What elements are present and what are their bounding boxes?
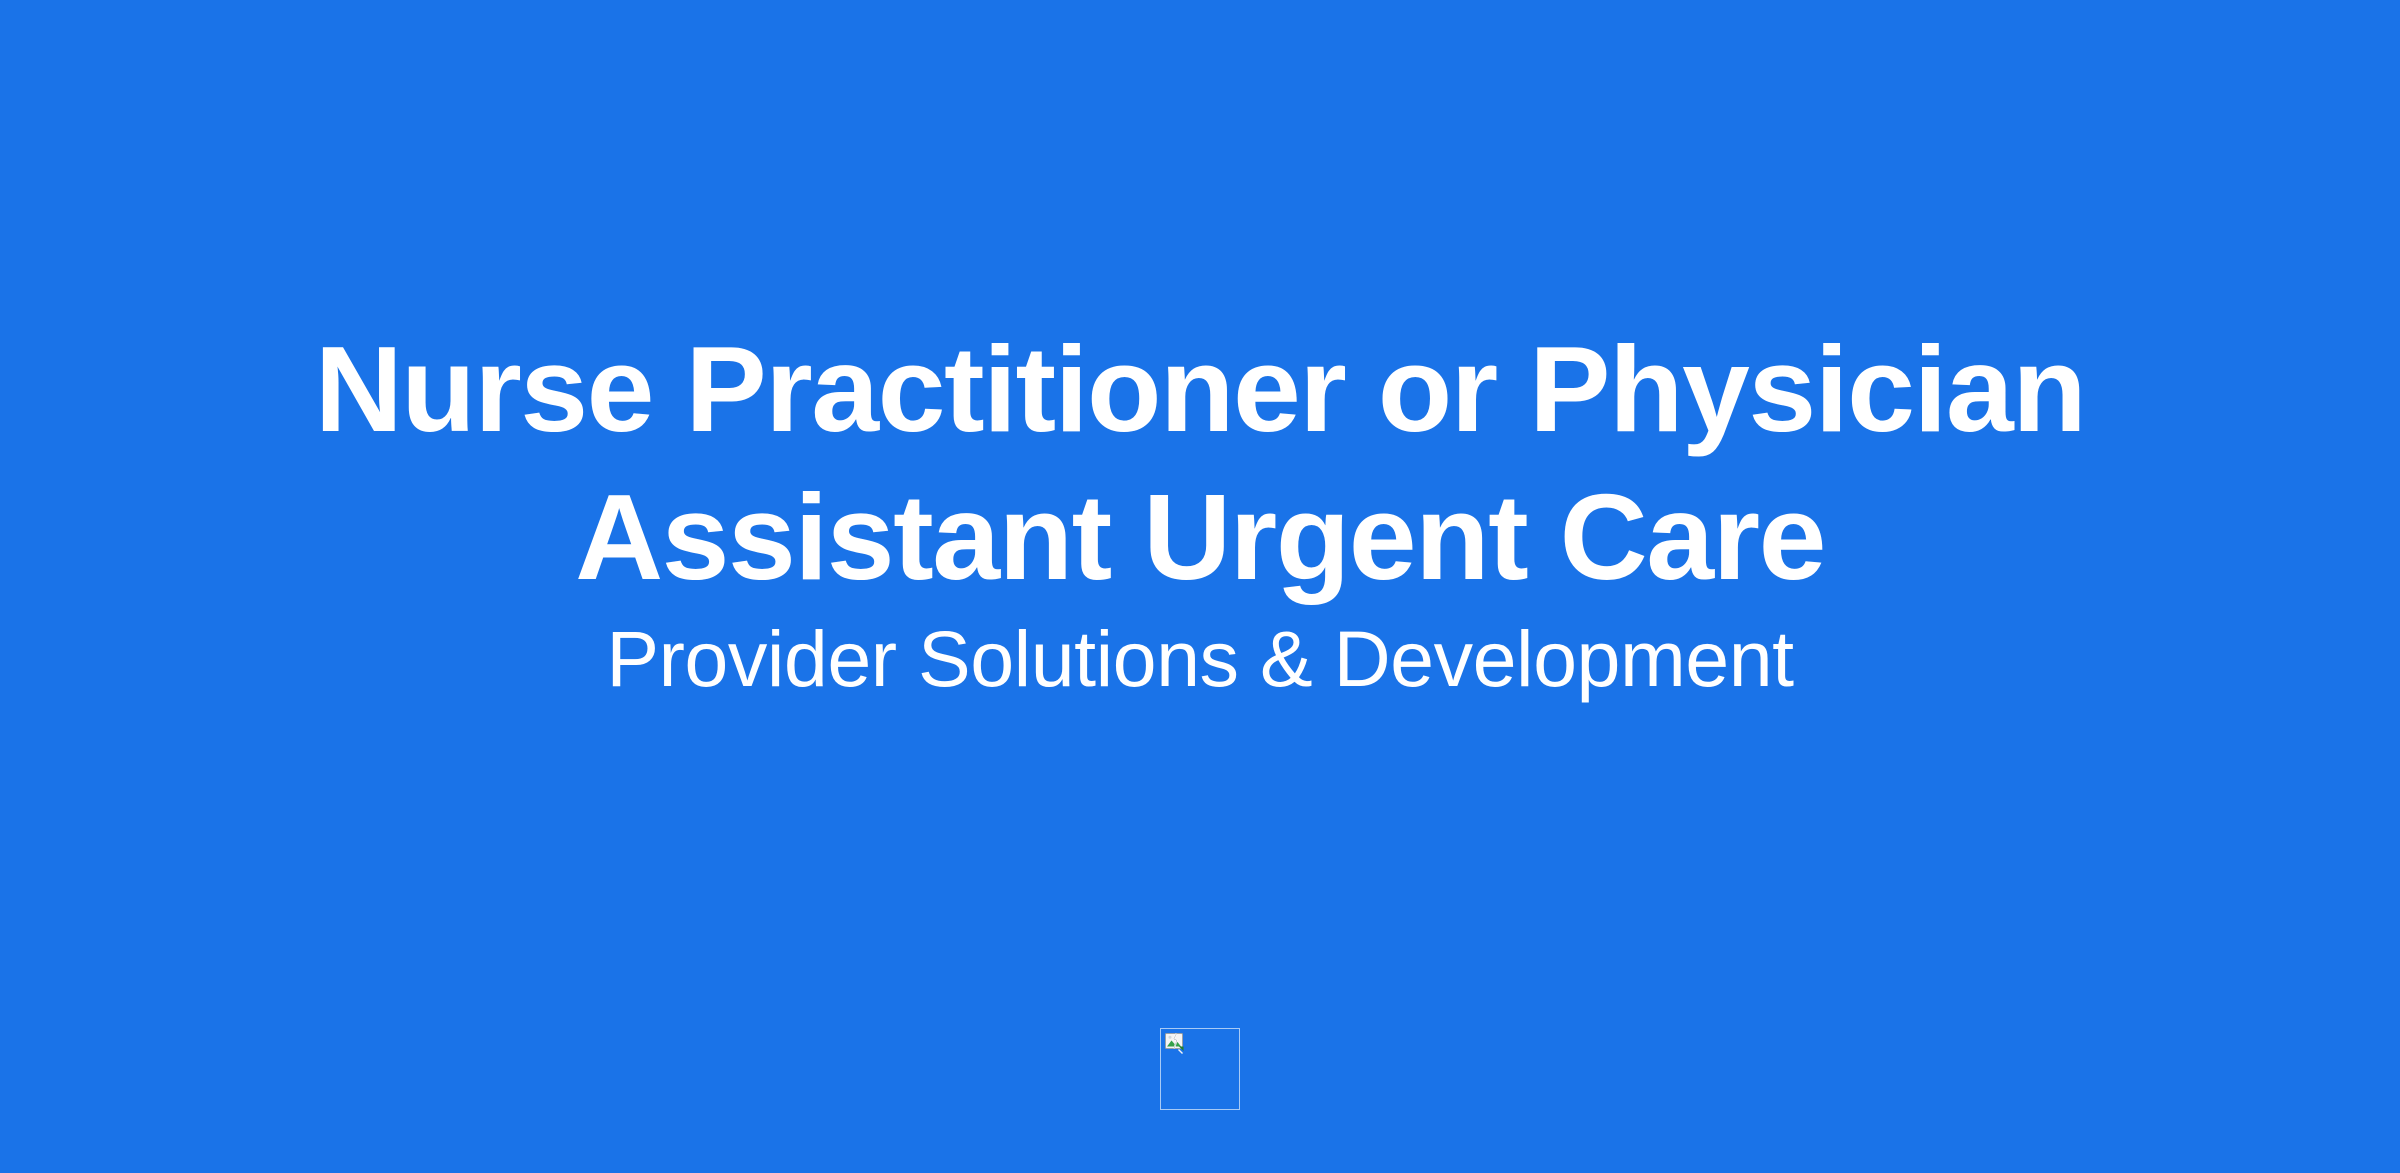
slide-canvas: Nurse Practitioner or Physician Assistan… xyxy=(0,0,2400,1173)
slide-subtitle: Provider Solutions & Development xyxy=(200,614,2200,704)
broken-image-icon xyxy=(1164,1032,1190,1056)
broken-image-placeholder[interactable] xyxy=(1160,1028,1240,1110)
slide-title: Nurse Practitioner or Physician Assistan… xyxy=(300,315,2100,611)
